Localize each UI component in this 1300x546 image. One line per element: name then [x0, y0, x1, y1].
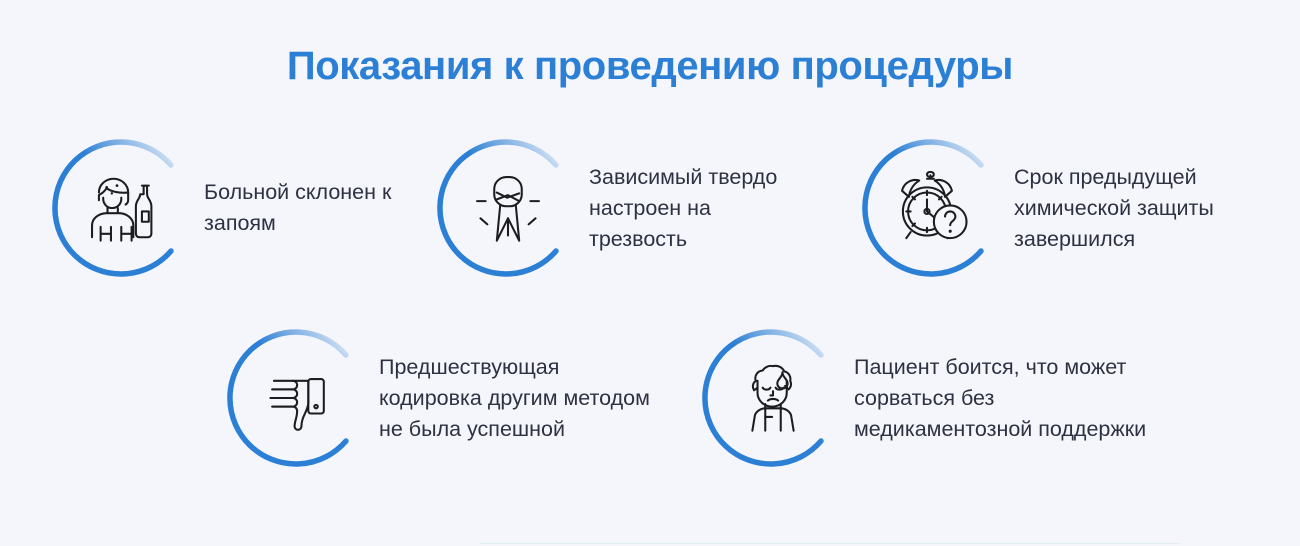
item-label-line: не была успешной: [379, 414, 699, 445]
indication-item-previous-coding-failed: Предшествующая кодировка другим методом …: [227, 327, 699, 469]
item-label: Больной склонен к запоям: [194, 177, 434, 239]
item-label-line: Срок предыдущей: [1014, 162, 1264, 193]
icon-circle: [437, 137, 579, 279]
page-title: Показания к проведению процедуры: [0, 44, 1300, 89]
person-with-bottle-icon: [80, 165, 166, 251]
indication-item-firm-sobriety: Зависимый твердо настроен на трезвость: [437, 137, 804, 279]
item-label-line: Пациент боится, что может: [854, 352, 1204, 383]
icon-circle: [862, 137, 1004, 279]
thumbs-down-icon: [255, 355, 341, 441]
indication-item-binge-drinking: Больной склонен к запоям: [52, 137, 434, 279]
bottom-divider: [480, 543, 1180, 544]
item-label: Пациент боится, что может сорваться без …: [844, 352, 1204, 445]
item-label-line: Больной склонен к: [204, 177, 434, 208]
item-label: Срок предыдущей химической защиты заверш…: [1004, 162, 1264, 255]
item-label-line: настроен на: [589, 193, 804, 224]
worried-person-sweat-icon: [730, 355, 816, 441]
item-label-line: трезвость: [589, 224, 804, 255]
alarm-clock-question-icon: [890, 165, 976, 251]
icon-circle: [227, 327, 369, 469]
item-label-line: кодировка другим методом: [379, 383, 699, 414]
item-label-line: медикаментозной поддержки: [854, 414, 1204, 445]
item-label-line: химической защиты: [1014, 193, 1264, 224]
infographic-root: Показания к проведению процедуры: [0, 0, 1300, 546]
item-label: Зависимый твердо настроен на трезвость: [579, 162, 804, 255]
item-label-line: Зависимый твердо: [589, 162, 804, 193]
determined-person-icon: [465, 165, 551, 251]
icon-circle: [702, 327, 844, 469]
item-label-line: Предшествующая: [379, 352, 699, 383]
indication-item-previous-protection-expired: Срок предыдущей химической защиты заверш…: [862, 137, 1264, 279]
indication-item-fear-of-relapse: Пациент боится, что может сорваться без …: [702, 327, 1204, 469]
icon-circle: [52, 137, 194, 279]
item-label: Предшествующая кодировка другим методом …: [369, 352, 699, 445]
item-label-line: запоям: [204, 208, 434, 239]
item-label-line: завершился: [1014, 224, 1264, 255]
item-label-line: сорваться без: [854, 383, 1204, 414]
